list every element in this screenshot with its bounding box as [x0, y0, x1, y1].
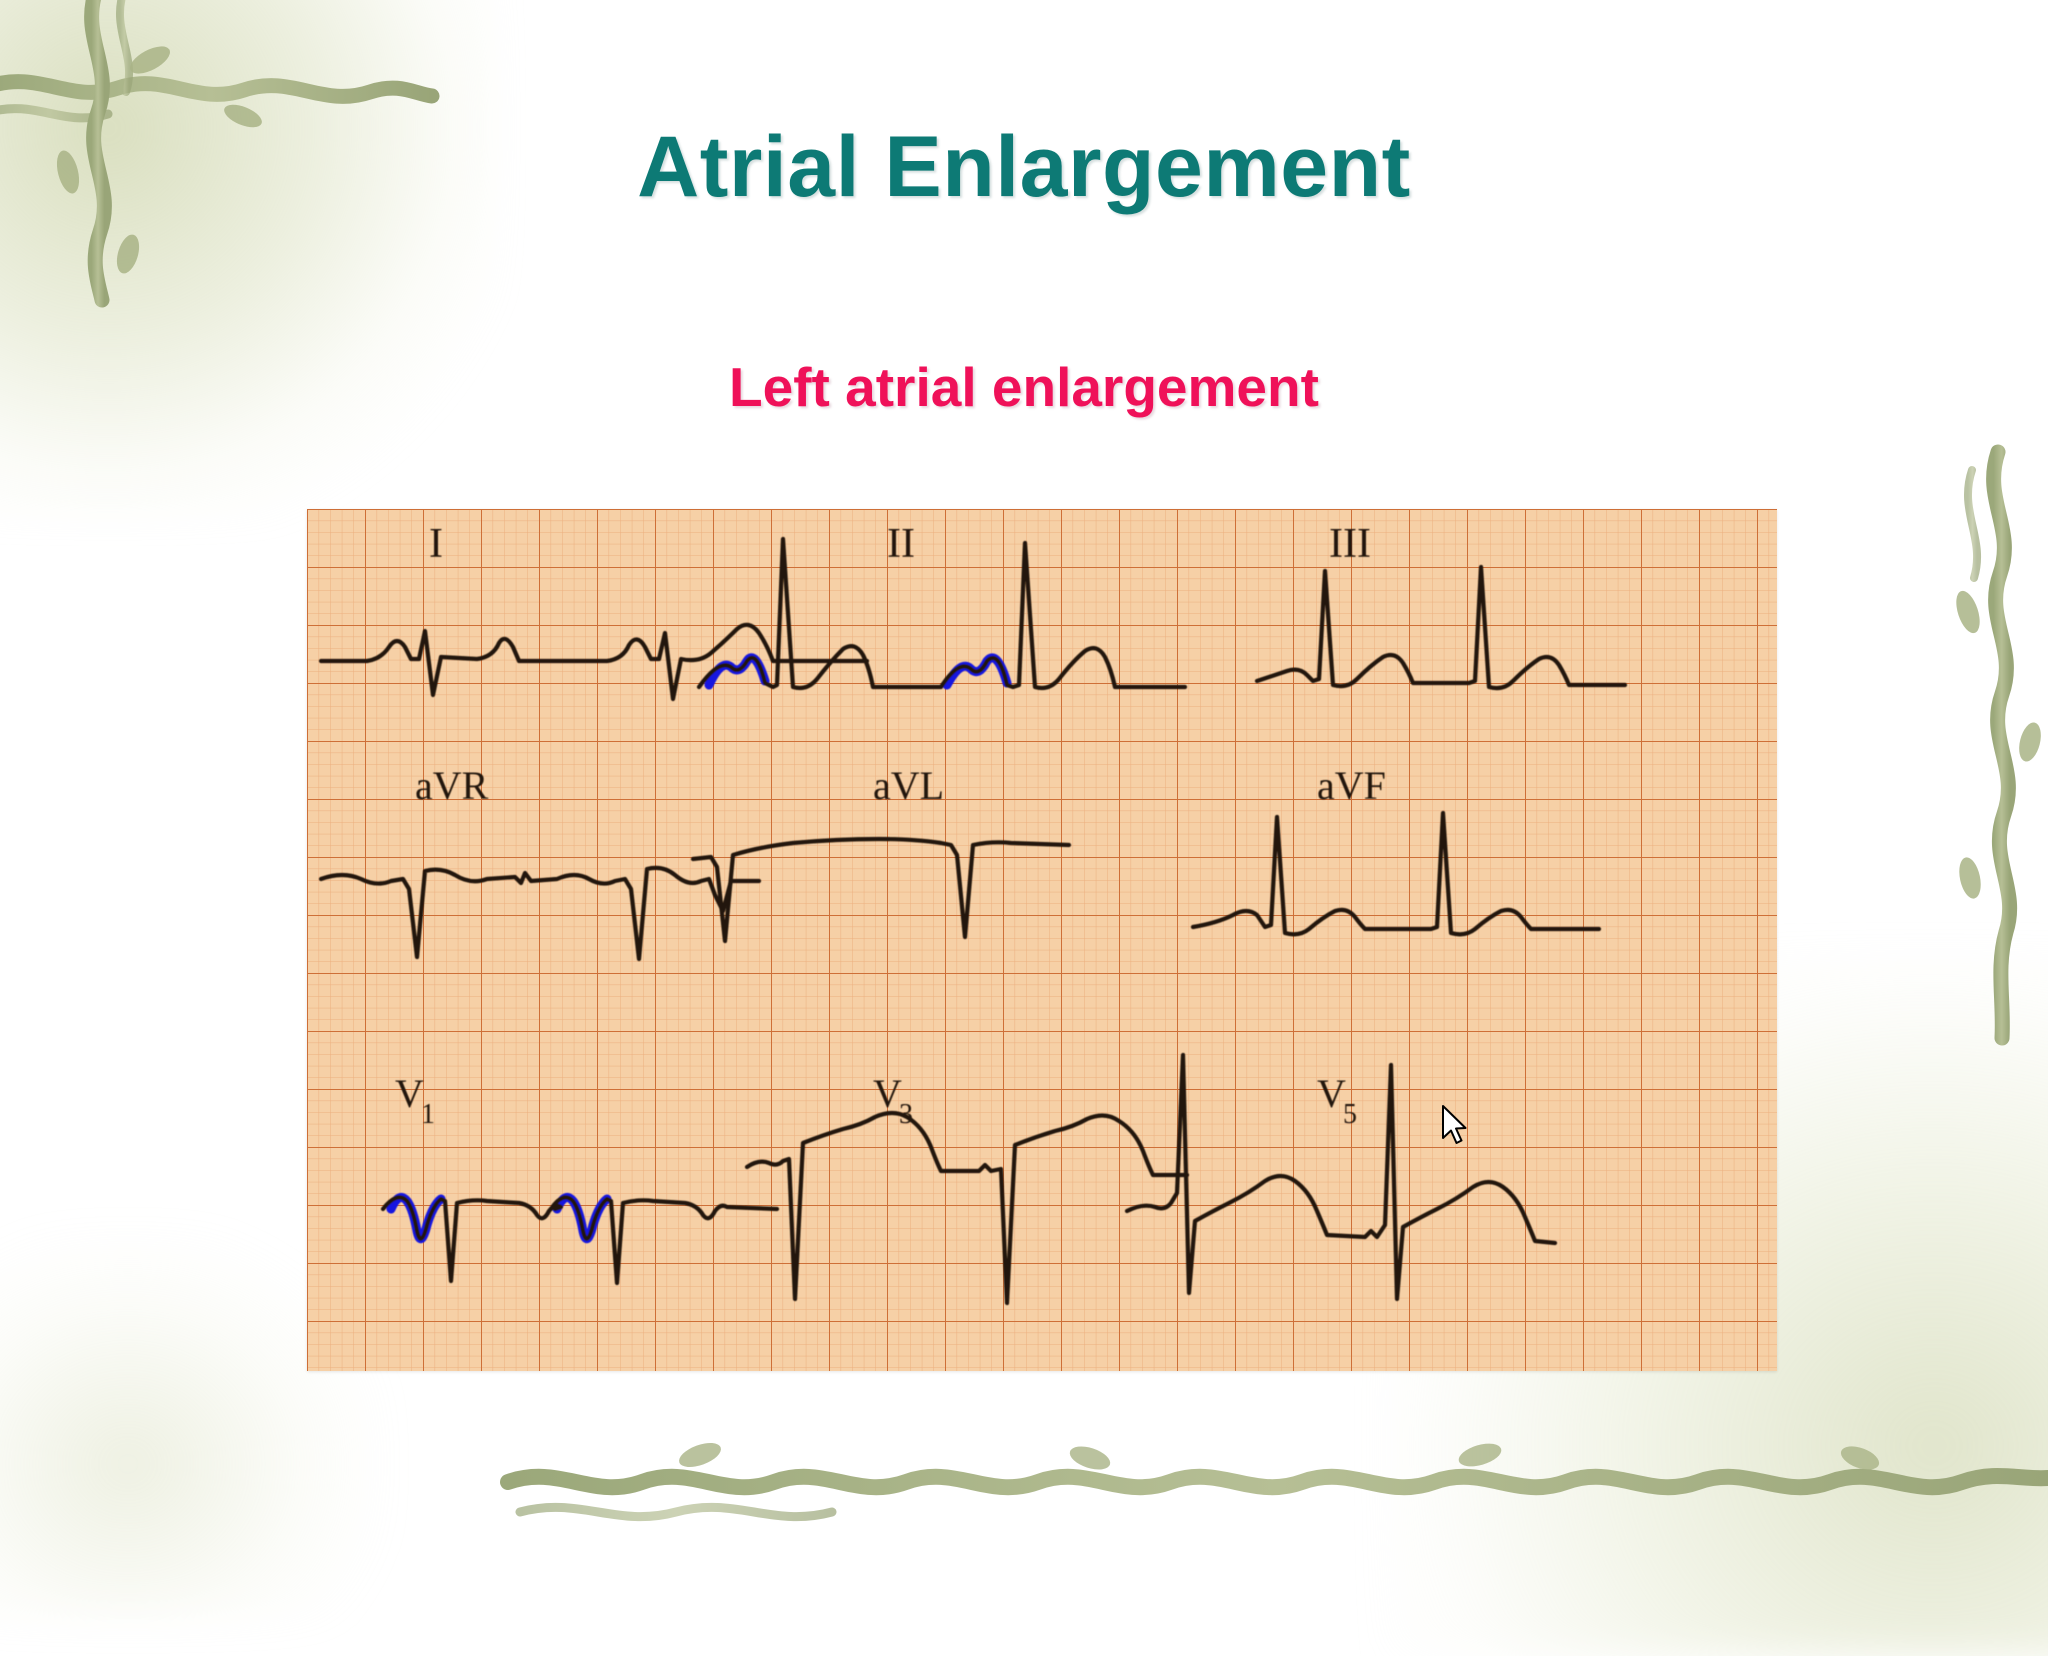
- svg-text:V: V: [1317, 1071, 1346, 1116]
- svg-text:aVL: aVL: [873, 763, 944, 808]
- svg-text:V: V: [395, 1071, 424, 1116]
- svg-text:1: 1: [421, 1099, 435, 1130]
- leaf-wash-top-left: [0, 0, 500, 520]
- page-title: Atrial Enlargement: [0, 118, 2048, 217]
- page-subtitle: Left atrial enlargement: [0, 355, 2048, 419]
- svg-text:aVF: aVF: [1317, 763, 1386, 808]
- svg-text:5: 5: [1343, 1099, 1357, 1130]
- svg-text:V: V: [873, 1071, 902, 1116]
- ecg-12-lead-image: I II III aVR: [307, 509, 1777, 1371]
- svg-text:aVR: aVR: [415, 763, 489, 808]
- svg-text:III: III: [1329, 521, 1371, 567]
- svg-text:II: II: [887, 521, 915, 567]
- ecg-svg: I II III aVR: [307, 509, 1777, 1371]
- svg-text:I: I: [429, 521, 443, 567]
